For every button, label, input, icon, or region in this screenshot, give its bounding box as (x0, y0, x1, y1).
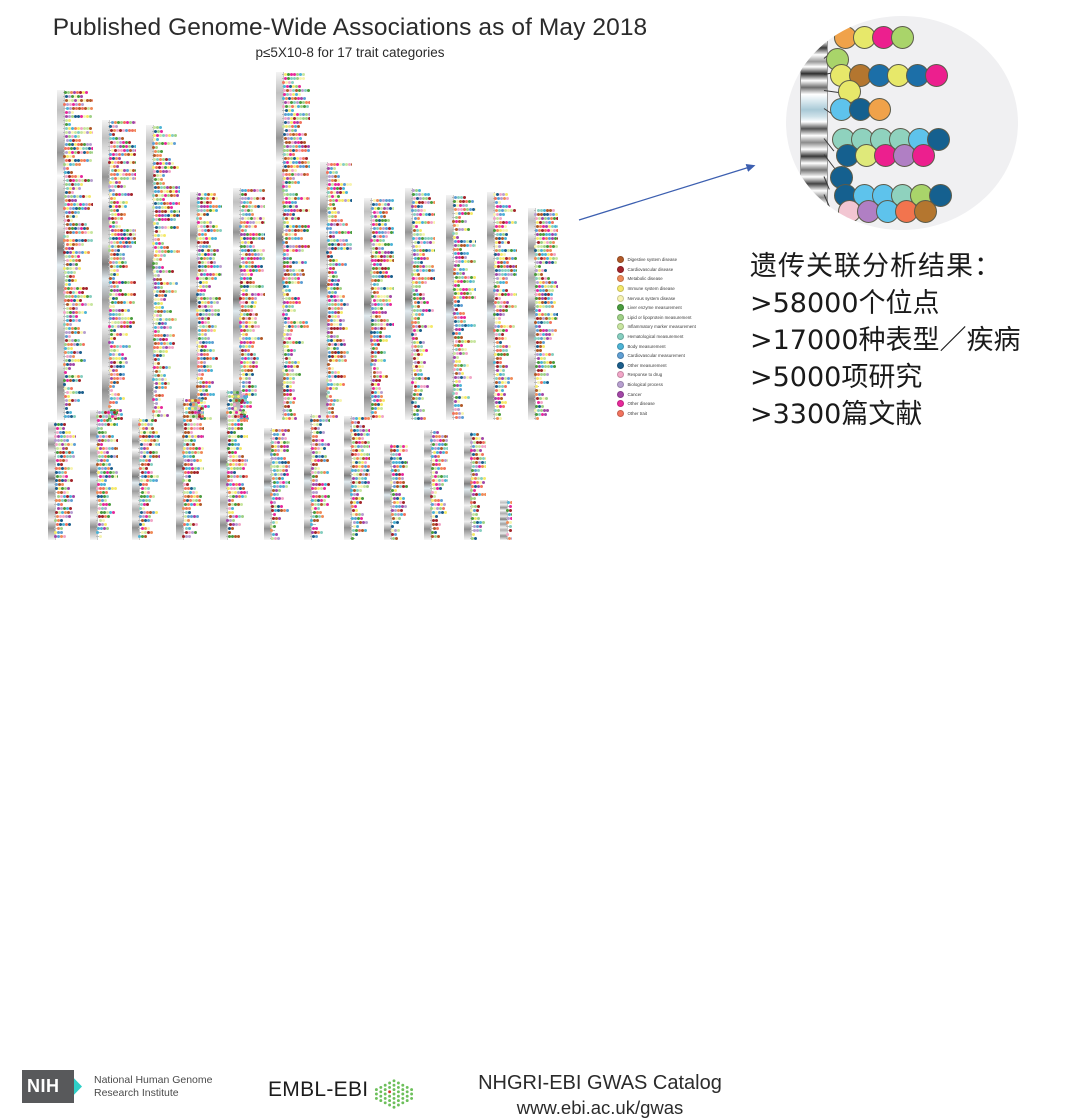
association-row (282, 245, 310, 248)
association-row (108, 253, 125, 256)
association-row (152, 214, 180, 217)
association-row (350, 481, 370, 484)
association-row (226, 495, 247, 498)
association-row (282, 121, 302, 124)
association-row (493, 381, 510, 384)
association-row (63, 355, 75, 358)
association-row (138, 439, 159, 442)
association-row (411, 221, 435, 224)
association-row (63, 371, 67, 374)
association-row (370, 275, 393, 278)
association-row (370, 379, 381, 382)
association-row (196, 373, 204, 376)
association-row (108, 205, 127, 208)
association-row (239, 365, 258, 368)
association-row (282, 93, 301, 96)
association-row (430, 475, 448, 478)
association-row (96, 491, 108, 494)
association-row (411, 329, 422, 332)
association-row (152, 262, 158, 265)
association-row (196, 233, 207, 236)
association-row (534, 337, 552, 340)
association-row (470, 433, 479, 436)
association-row (239, 225, 257, 228)
association-row (282, 113, 310, 116)
association-row (196, 269, 207, 272)
association-row (534, 233, 558, 236)
association-row (63, 311, 87, 314)
association-row (310, 519, 319, 522)
association-row (108, 125, 118, 128)
association-row (411, 225, 418, 228)
legend-item: Biological process (617, 380, 732, 390)
legend-color-swatch (617, 391, 624, 398)
legend-item: Other disease (617, 399, 732, 409)
association-row (390, 485, 408, 488)
association-row (282, 281, 303, 284)
chromosome-ideogram-zoomed (800, 40, 828, 214)
association-row (54, 427, 65, 430)
association-row (326, 383, 345, 386)
association-dot-rows (430, 430, 448, 540)
association-row (282, 293, 289, 296)
association-row (350, 421, 360, 424)
association-row (534, 249, 552, 252)
association-row (282, 305, 294, 308)
association-row (239, 265, 263, 268)
association-row (493, 289, 508, 292)
legend-color-swatch (617, 371, 624, 378)
legend-item: Liver enzyme measurement (617, 303, 732, 313)
association-row (370, 367, 379, 370)
legend-item-label: Other disease (628, 401, 655, 406)
association-row (534, 305, 554, 308)
association-row (430, 507, 445, 510)
association-row (493, 261, 509, 264)
association-row (152, 238, 160, 241)
association-row (452, 304, 463, 307)
association-row (282, 193, 298, 196)
association-row (326, 183, 352, 186)
association-row (370, 363, 376, 366)
association-row (310, 511, 322, 514)
association-row (282, 345, 289, 348)
association-row (196, 305, 213, 308)
association-row (108, 313, 124, 316)
association-row (63, 283, 71, 286)
association-row (282, 77, 305, 80)
association-row (138, 471, 153, 474)
association-row (108, 357, 127, 360)
association-row (534, 273, 543, 276)
association-row (452, 276, 476, 279)
association-row (182, 415, 204, 418)
association-row (108, 341, 114, 344)
association-row (534, 221, 554, 224)
association-row (390, 481, 405, 484)
association-row (534, 353, 554, 356)
association-row (534, 369, 546, 372)
association-row (63, 279, 77, 282)
association-row (63, 247, 74, 250)
association-row (196, 341, 214, 344)
association-row (452, 196, 466, 199)
association-row (96, 459, 109, 462)
association-row (196, 357, 218, 360)
association-row (152, 162, 174, 165)
association-row (108, 237, 136, 240)
legend-item: Immune system disease (617, 284, 732, 294)
association-row (350, 517, 363, 520)
association-row (411, 381, 417, 384)
association-row (96, 507, 107, 510)
association-row (282, 241, 288, 244)
association-row (226, 423, 243, 426)
association-row (411, 265, 434, 268)
association-row (534, 229, 558, 232)
association-row (470, 449, 482, 452)
association-row (152, 230, 161, 233)
chromosome-column (276, 72, 310, 420)
association-row (196, 277, 217, 280)
association-row (182, 519, 190, 522)
association-row (452, 300, 460, 303)
association-row (270, 489, 281, 492)
association-row (282, 189, 288, 192)
association-row (108, 325, 132, 328)
association-row (326, 215, 337, 218)
association-row (63, 107, 93, 110)
association-row (63, 263, 78, 266)
association-row (196, 253, 216, 256)
association-row (54, 471, 67, 474)
association-row (54, 443, 76, 446)
association-row (370, 271, 388, 274)
association-row (108, 169, 136, 172)
association-row (152, 178, 163, 181)
association-row (152, 138, 159, 141)
association-row (350, 501, 362, 504)
association-row (63, 187, 81, 190)
association-row (226, 443, 240, 446)
association-row (196, 209, 218, 212)
association-row (108, 181, 121, 184)
association-row (390, 465, 408, 468)
association-row (370, 255, 394, 258)
association-row (196, 297, 221, 300)
association-row (493, 265, 517, 268)
association-row (270, 517, 281, 520)
association-row (196, 345, 207, 348)
association-row (282, 197, 310, 200)
association-row (152, 358, 160, 361)
association-row (196, 353, 209, 356)
association-row (350, 425, 365, 428)
association-row (196, 265, 222, 268)
association-row (282, 201, 297, 204)
association-row (54, 431, 71, 434)
association-row (239, 233, 265, 236)
association-row (239, 321, 257, 324)
association-dot-rows (326, 162, 352, 420)
association-row (350, 521, 368, 524)
association-row (282, 257, 292, 260)
association-row (226, 479, 233, 482)
association-row (310, 443, 330, 446)
association-row (326, 327, 348, 330)
association-row (310, 439, 324, 442)
association-row (430, 519, 438, 522)
chromosome-column (446, 195, 476, 420)
association-row (493, 213, 505, 216)
association-row (452, 268, 468, 271)
association-row (411, 273, 420, 276)
association-row (270, 481, 290, 484)
association-row (138, 515, 151, 518)
magnified-chromosome-inset (786, 16, 1018, 230)
association-row (470, 521, 485, 524)
association-row (326, 247, 352, 250)
legend-color-swatch (617, 362, 624, 369)
association-row (152, 134, 177, 137)
association-row (63, 191, 74, 194)
association-row (370, 223, 387, 226)
association-dot-rows (239, 188, 265, 420)
association-row (282, 381, 295, 384)
association-row (282, 165, 310, 168)
association-row (506, 521, 512, 524)
association-row (326, 219, 343, 222)
catalog-name: NHGRI-EBI GWAS Catalog (420, 1071, 780, 1096)
association-row (239, 241, 253, 244)
association-row (196, 301, 219, 304)
association-row (534, 301, 556, 304)
association-row (152, 338, 168, 341)
association-row (326, 371, 340, 374)
association-row (282, 349, 296, 352)
association-dot-rows (196, 192, 222, 420)
association-row (534, 277, 550, 280)
association-row (196, 317, 210, 320)
association-dot-rows (411, 188, 435, 420)
association-row (452, 348, 467, 351)
association-row (239, 229, 247, 232)
association-row (534, 297, 553, 300)
association-row (96, 447, 118, 450)
association-dot-rows (138, 418, 160, 540)
association-row (138, 451, 158, 454)
association-row (493, 321, 501, 324)
association-row (452, 224, 459, 227)
association-row (196, 349, 215, 352)
association-row (196, 337, 210, 340)
association-row (534, 281, 557, 284)
association-row (54, 507, 72, 510)
association-row (452, 316, 466, 319)
association-row (470, 445, 486, 448)
association-row (108, 309, 130, 312)
association-row (326, 347, 339, 350)
association-row (182, 451, 203, 454)
association-row (326, 315, 340, 318)
chromosome-column (384, 444, 408, 540)
association-row (63, 319, 81, 322)
association-row (152, 374, 166, 377)
association-row (270, 485, 288, 488)
association-row (470, 469, 480, 472)
association-row (152, 282, 178, 285)
association-row (411, 373, 423, 376)
association-row (326, 167, 336, 170)
association-row (326, 343, 346, 346)
association-row (493, 225, 507, 228)
legend-color-swatch (617, 295, 624, 302)
association-row (239, 249, 265, 252)
association-row (96, 443, 103, 446)
association-row (239, 237, 265, 240)
association-row (152, 242, 164, 245)
association-row (370, 339, 388, 342)
association-row (63, 251, 90, 254)
association-row (350, 461, 367, 464)
association-row (152, 382, 170, 385)
association-row (370, 347, 378, 350)
legend-item: Response to drug (617, 370, 732, 380)
association-row (534, 321, 552, 324)
association-row (226, 439, 237, 442)
association-row (411, 321, 420, 324)
association-row (63, 367, 71, 370)
association-row (350, 441, 370, 444)
association-row (63, 307, 78, 310)
association-row (96, 467, 113, 470)
association-row (226, 519, 235, 522)
association-row (534, 317, 558, 320)
association-row (182, 507, 191, 510)
association-row (196, 285, 211, 288)
association-row (493, 281, 508, 284)
association-row (182, 511, 191, 514)
association-row (452, 284, 460, 287)
association-row (270, 465, 290, 468)
association-row (196, 329, 216, 332)
association-row (63, 139, 81, 142)
association-row (411, 213, 435, 216)
association-row (196, 313, 220, 316)
association-row (108, 149, 136, 152)
association-row (108, 373, 125, 376)
association-row (63, 351, 82, 354)
association-row (282, 101, 310, 104)
association-row (534, 381, 549, 384)
association-row (138, 511, 158, 514)
legend-color-swatch (617, 400, 624, 407)
association-row (152, 294, 167, 297)
legend-item-label: Digestive system disease (628, 257, 678, 262)
association-row (152, 266, 164, 269)
association-row (452, 312, 465, 315)
association-row (63, 359, 86, 362)
association-row (411, 325, 433, 328)
association-row (310, 523, 313, 526)
association-row (239, 361, 258, 364)
association-row (96, 411, 118, 414)
association-row (370, 231, 394, 234)
association-row (152, 302, 163, 305)
association-row (326, 359, 347, 362)
association-row (182, 467, 204, 470)
association-row (282, 237, 303, 240)
association-row (282, 209, 310, 212)
association-row (326, 175, 340, 178)
association-row (411, 257, 429, 260)
association-row (239, 325, 260, 328)
association-row (326, 223, 348, 226)
association-row (108, 157, 121, 160)
association-row (493, 245, 501, 248)
association-row (282, 289, 291, 292)
association-row (370, 279, 383, 282)
association-row (152, 210, 180, 213)
chromosome-column (220, 390, 248, 540)
association-row (108, 305, 115, 308)
association-row (350, 437, 364, 440)
association-row (411, 297, 425, 300)
association-row (430, 435, 448, 438)
association-row (226, 503, 243, 506)
association-row (63, 347, 73, 350)
association-row (282, 173, 309, 176)
association-row (282, 309, 296, 312)
association-row (350, 453, 370, 456)
association-row (63, 303, 93, 306)
association-row (534, 269, 547, 272)
association-row (370, 375, 388, 378)
association-row (96, 463, 111, 466)
association-row (138, 455, 160, 458)
association-row (108, 193, 133, 196)
association-row (370, 291, 379, 294)
association-row (108, 241, 136, 244)
legend-item-label: Biological process (628, 382, 663, 387)
chromosome-column (304, 414, 330, 540)
association-row (411, 201, 435, 204)
association-row (108, 377, 125, 380)
association-row (326, 307, 343, 310)
association-row (54, 447, 68, 450)
association-row (54, 519, 63, 522)
association-row (196, 261, 216, 264)
association-row (493, 229, 508, 232)
legend-item-label: Inflammatory marker measurement (628, 324, 696, 329)
association-row (54, 483, 64, 486)
association-row (239, 205, 265, 208)
association-row (108, 173, 136, 176)
association-row (370, 283, 379, 286)
association-row (430, 483, 444, 486)
association-row (138, 491, 150, 494)
association-row (152, 290, 177, 293)
legend-item-label: Cancer (628, 392, 642, 397)
association-row (282, 229, 309, 232)
association-row (534, 261, 557, 264)
association-row (138, 499, 151, 502)
association-row (152, 198, 165, 201)
association-row (326, 163, 352, 166)
association-row (239, 301, 257, 304)
association-row (282, 361, 300, 364)
legend-item: Other trait (617, 409, 732, 419)
